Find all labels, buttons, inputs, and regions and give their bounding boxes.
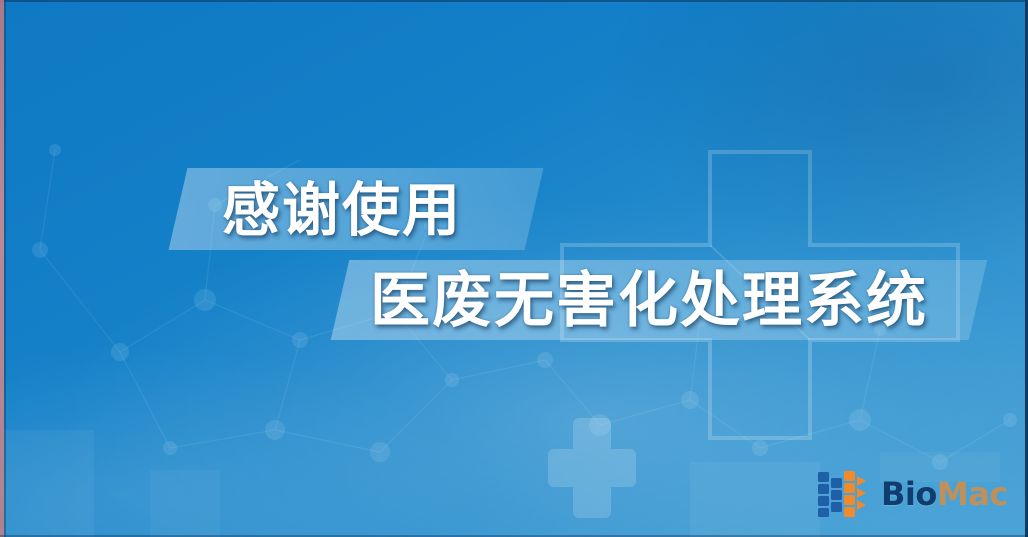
decor-block [690, 462, 820, 537]
biomac-squares-mark-icon [818, 470, 872, 518]
biomac-wordmark: BioMac [881, 478, 1008, 510]
decor-block [0, 430, 94, 537]
headline-line-2: 医废无害化处理系统 [370, 268, 928, 334]
biomac-logo: BioMac [818, 470, 1008, 518]
logo-text-secondary: Mac [937, 475, 1008, 513]
frame-edge-left-inner [4, 0, 6, 537]
logo-text-primary: Bio [881, 475, 937, 513]
medical-cross-solid-icon [548, 418, 636, 518]
decor-block [150, 470, 220, 537]
frame-edge-top [0, 0, 1028, 2]
slide-canvas: 感谢使用 医废无害化处理系统 [0, 0, 1028, 537]
headline-line-1: 感谢使用 [222, 178, 462, 242]
